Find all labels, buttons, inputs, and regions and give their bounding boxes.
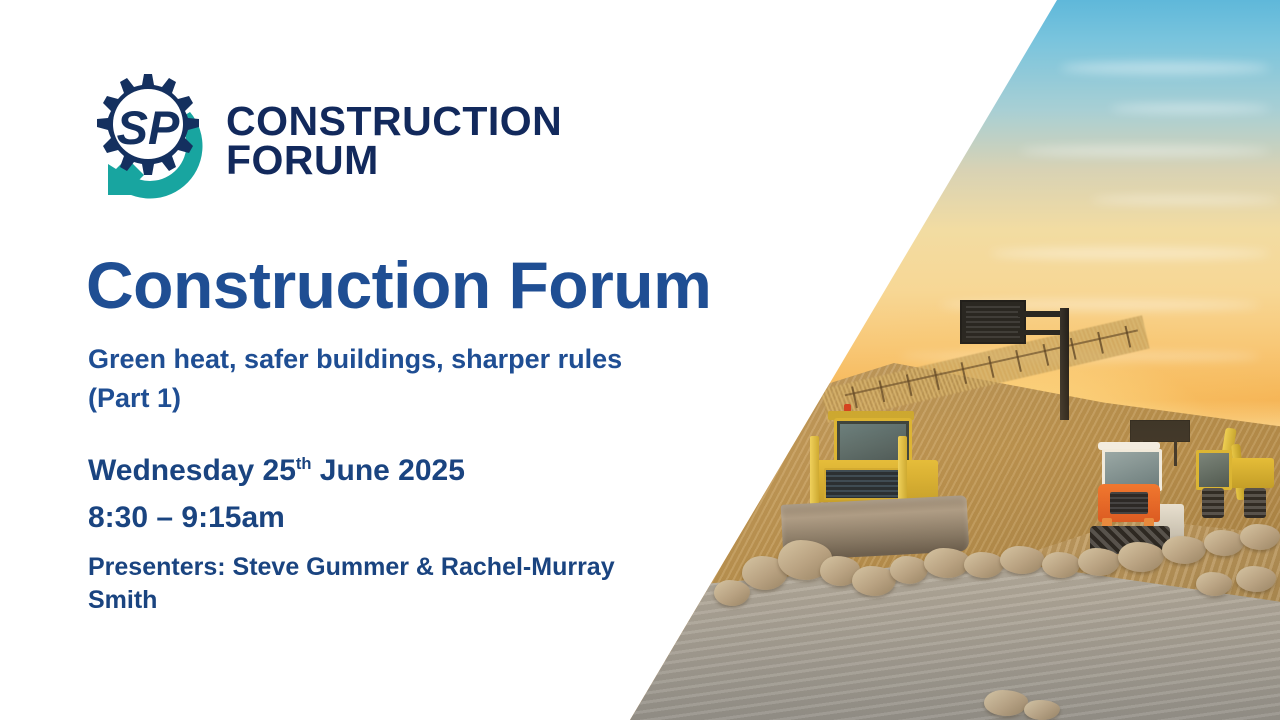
page-title: Construction Forum bbox=[86, 252, 711, 318]
fence-post bbox=[1125, 326, 1132, 348]
page-subtitle: Green heat, safer buildings, sharper rul… bbox=[88, 340, 748, 418]
roadside-sign-leg bbox=[1174, 440, 1177, 466]
sp-gear-logo-icon: SP bbox=[82, 68, 214, 213]
dozer-hydraulic-ram bbox=[898, 436, 907, 506]
cloud-wisp bbox=[1020, 146, 1270, 156]
wheeled-excavator-icon bbox=[1194, 432, 1278, 540]
gantry-arm bbox=[1018, 330, 1064, 335]
excavator-wheel bbox=[1244, 488, 1266, 518]
event-details: Wednesday 25th June 2025 8:30 – 9:15am P… bbox=[88, 452, 668, 617]
roller-vent bbox=[1110, 492, 1148, 514]
dozer-hydraulic-ram bbox=[810, 436, 819, 506]
event-date-prefix: Wednesday 25 bbox=[88, 454, 296, 487]
cloud-wisp bbox=[1110, 104, 1270, 113]
cloud-wisp bbox=[1060, 62, 1270, 74]
fence-post bbox=[851, 386, 858, 408]
fence-post bbox=[1070, 338, 1077, 360]
soil-compactor-roller-icon bbox=[1088, 442, 1174, 558]
fence-post bbox=[878, 380, 885, 402]
subtitle-line-2: (Part 1) bbox=[88, 379, 748, 418]
gantry-sign-board bbox=[960, 300, 1026, 344]
event-presenters: Presenters: Steve Gummer & Rachel-Murray… bbox=[88, 551, 668, 617]
sp-construction-forum-logo: SP CONSTRUCTION FORUM bbox=[82, 68, 522, 213]
svg-text:SP: SP bbox=[117, 101, 180, 154]
dozer-cab-glass bbox=[840, 424, 906, 462]
presentation-slide: SP CONSTRUCTION FORUM Construction Forum… bbox=[0, 0, 1280, 720]
subtitle-line-1: Green heat, safer buildings, sharper rul… bbox=[88, 340, 748, 379]
event-date-ordinal: th bbox=[296, 455, 312, 473]
fence-post bbox=[933, 368, 940, 390]
fence-post bbox=[1043, 344, 1050, 366]
dozer-grille bbox=[824, 468, 900, 500]
excavator-cab bbox=[1196, 450, 1232, 490]
fence-post bbox=[1015, 350, 1022, 372]
logo-wordmark: CONSTRUCTION FORUM bbox=[226, 102, 562, 180]
roadside-sign-board bbox=[1130, 420, 1190, 442]
fence-post bbox=[906, 374, 913, 396]
bulldozer-icon bbox=[800, 418, 960, 558]
slide-content: SP CONSTRUCTION FORUM Construction Forum… bbox=[0, 0, 660, 720]
logo-wordmark-line2: FORUM bbox=[226, 141, 562, 180]
cloud-wisp bbox=[990, 248, 1270, 259]
excavator-wheel bbox=[1202, 488, 1224, 518]
roadside-sign-icon bbox=[1130, 420, 1190, 442]
fence-post bbox=[1097, 332, 1104, 354]
gantry-post bbox=[1060, 308, 1069, 420]
fence-post bbox=[960, 362, 967, 384]
gantry-arm bbox=[1018, 311, 1064, 317]
event-time: 8:30 – 9:15am bbox=[88, 498, 668, 537]
event-date-suffix: June 2025 bbox=[311, 454, 464, 487]
event-date: Wednesday 25th June 2025 bbox=[88, 452, 668, 490]
fence-post bbox=[988, 356, 995, 378]
cloud-wisp bbox=[1090, 196, 1280, 204]
